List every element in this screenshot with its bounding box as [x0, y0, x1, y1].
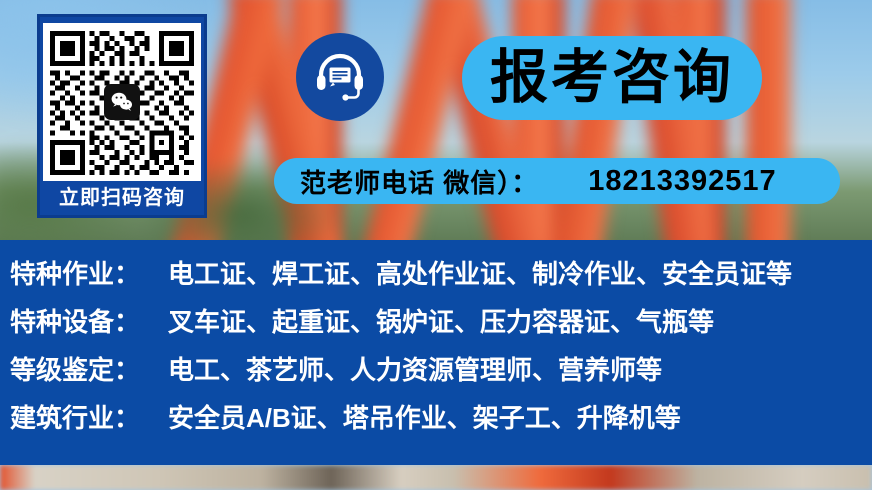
info-row-label: 特种设备： [10, 302, 168, 339]
info-row-value: 电工证、焊工证、高处作业证、制冷作业、安全员证等 [168, 254, 792, 291]
info-row-value: 安全员A/B证、塔吊作业、架子工、升降机等 [168, 398, 681, 435]
info-row: 特种设备： 叉车证、起重证、锅炉证、压力容器证、气瓶等 [0, 302, 872, 350]
info-row: 建筑行业： 安全员A/B证、塔吊作业、架子工、升降机等 [0, 398, 872, 446]
title-pill: 报考咨询 [462, 36, 762, 120]
wechat-icon [104, 84, 140, 120]
info-row-label: 等级鉴定： [10, 350, 168, 387]
headset-support-icon [296, 33, 384, 121]
certificate-categories-panel: 特种作业： 电工证、焊工证、高处作业证、制冷作业、安全员证等 特种设备： 叉车证… [0, 240, 872, 465]
background-photo-bottom-strip [0, 465, 872, 490]
contact-label: 范老师电话 微信）： [300, 163, 538, 200]
wechat-glyph [109, 89, 135, 115]
info-row-label: 特种作业： [10, 254, 168, 291]
page-title: 报考咨询 [490, 49, 734, 107]
promotional-poster: 立即扫码咨询 报考咨询 范老师电话 微信）： 18213392517 特种作业：… [0, 0, 872, 490]
info-row: 等级鉴定： 电工、茶艺师、人力资源管理师、营养师等 [0, 350, 872, 398]
contact-phone-number[interactable]: 18213392517 [588, 165, 776, 198]
qr-code-card[interactable]: 立即扫码咨询 [37, 14, 207, 218]
info-row: 特种作业： 电工证、焊工证、高处作业证、制冷作业、安全员证等 [0, 254, 872, 302]
qr-caption: 立即扫码咨询 [46, 181, 198, 215]
contact-pill[interactable]: 范老师电话 微信）： 18213392517 [274, 158, 840, 204]
info-row-value: 叉车证、起重证、锅炉证、压力容器证、气瓶等 [168, 302, 714, 339]
info-row-value: 电工、茶艺师、人力资源管理师、营养师等 [168, 350, 662, 387]
info-row-label: 建筑行业： [10, 398, 168, 435]
headset-glyph [311, 48, 369, 106]
qr-code-image[interactable] [43, 23, 201, 181]
